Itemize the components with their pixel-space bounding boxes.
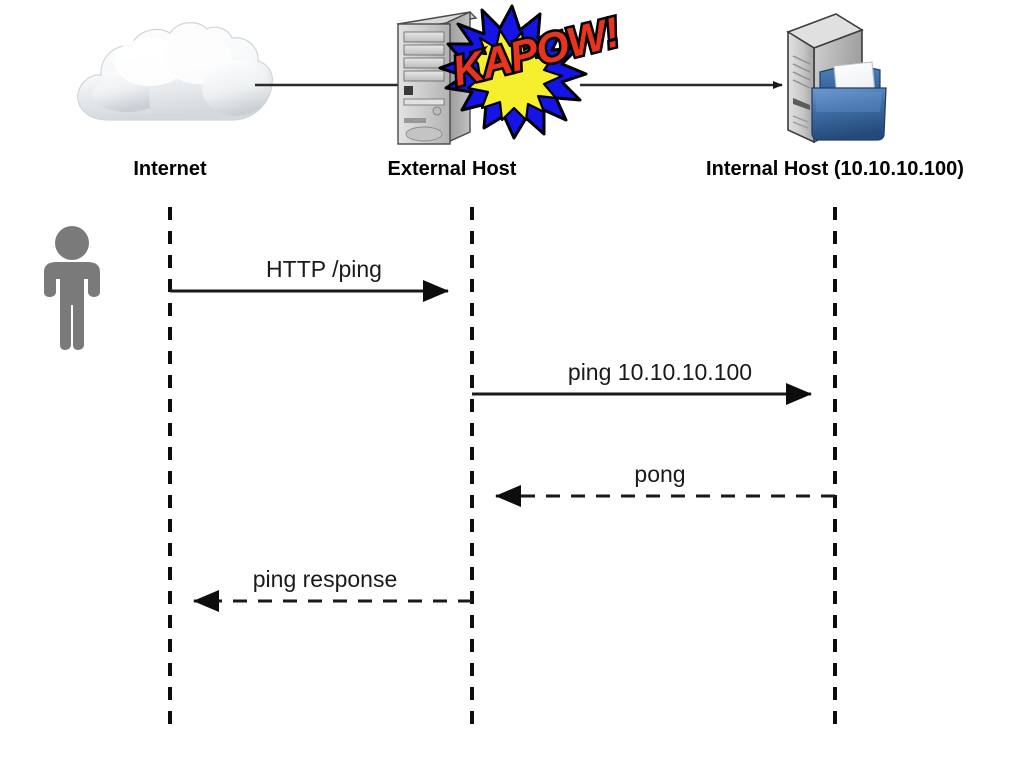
message-label-ping-internal: ping 10.10.10.100	[568, 359, 752, 385]
cloud-icon	[78, 23, 273, 120]
message-label-pong: pong	[634, 461, 685, 487]
server-folder-icon	[788, 14, 886, 142]
participant-label-external-host: External Host	[388, 158, 517, 180]
participant-label-internet: Internet	[133, 158, 207, 180]
user-actor	[44, 226, 100, 350]
participant-label-internal-host: Internal Host (10.10.10.100)	[706, 158, 964, 180]
message-label-ping-response: ping response	[253, 566, 398, 592]
message-label-http-ping: HTTP /ping	[266, 256, 382, 282]
sequence-diagram-canvas: KAPOW! Inter	[0, 0, 1024, 768]
